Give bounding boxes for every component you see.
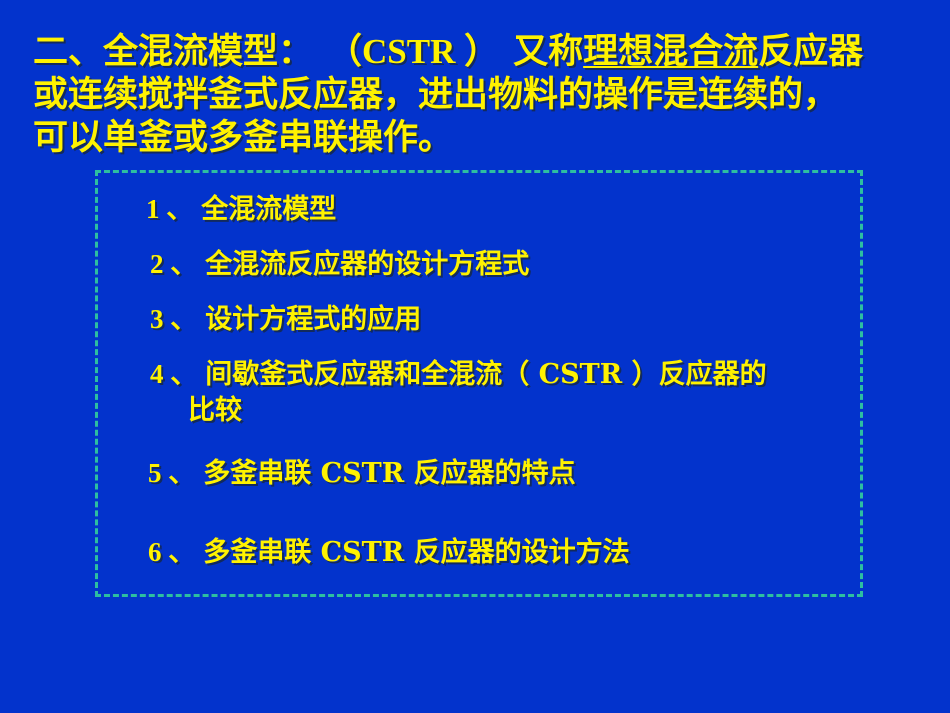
heading-line-1-part-c: 又称 [513,31,583,72]
list-item: 2 、全混流反应器的设计方程式 [150,246,529,283]
heading-underlined-phrase: 理想混合流 [583,31,758,72]
list-item-number: 6 、 [148,537,195,567]
list-item-number: 3 、 [150,304,197,334]
slide-heading: 二、全混流模型：（CSTR ）又称理想混合流反应器 或连续搅拌釜式反应器，进出物… [33,30,923,159]
list-item-label: 全混流反应器的设计方程式 [205,249,529,280]
heading-cstr-label: （CSTR ） [327,32,499,71]
list-item: 4 、间歇釜式反应器和全混流（ CSTR ）反应器的 比较 [150,356,767,429]
list-item-label: 多釜串联 CSTR 反应器的设计方法 [203,537,629,568]
list-item-label: 设计方程式的应用 [205,304,421,335]
list-item: 6 、多釜串联 CSTR 反应器的设计方法 [148,534,630,571]
heading-line-3: 可以单釜或多釜串联操作。 [33,116,923,159]
list-item-number: 4 、 [150,359,197,389]
list-item-continuation: 比较 [150,393,767,429]
list-item-number: 1 、 [146,194,193,224]
list-item-label: 间歇釜式反应器和全混流（ CSTR ）反应器的 [205,359,766,390]
list-item-number: 5 、 [148,458,195,488]
heading-line-2: 或连续搅拌釜式反应器，进出物料的操作是连续的， [33,73,923,116]
heading-line-1: 二、全混流模型：（CSTR ）又称理想混合流反应器 [33,30,923,73]
heading-line-1-part-d: 反应器 [758,31,863,72]
heading-line-1-part-a: 二、全混流模型： [33,31,313,72]
list-item-label: 全混流模型 [201,194,336,225]
slide-canvas: 二、全混流模型：（CSTR ）又称理想混合流反应器 或连续搅拌釜式反应器，进出物… [0,0,950,713]
list-item: 1 、全混流模型 [146,191,336,228]
list-item-number: 2 、 [150,249,197,279]
list-item-label: 多釜串联 CSTR 反应器的特点 [203,458,575,489]
agenda-list: 1 、全混流模型 2 、全混流反应器的设计方程式 3 、设计方程式的应用 4 、… [0,170,950,597]
list-item: 5 、多釜串联 CSTR 反应器的特点 [148,455,576,492]
list-item: 3 、设计方程式的应用 [150,301,421,338]
